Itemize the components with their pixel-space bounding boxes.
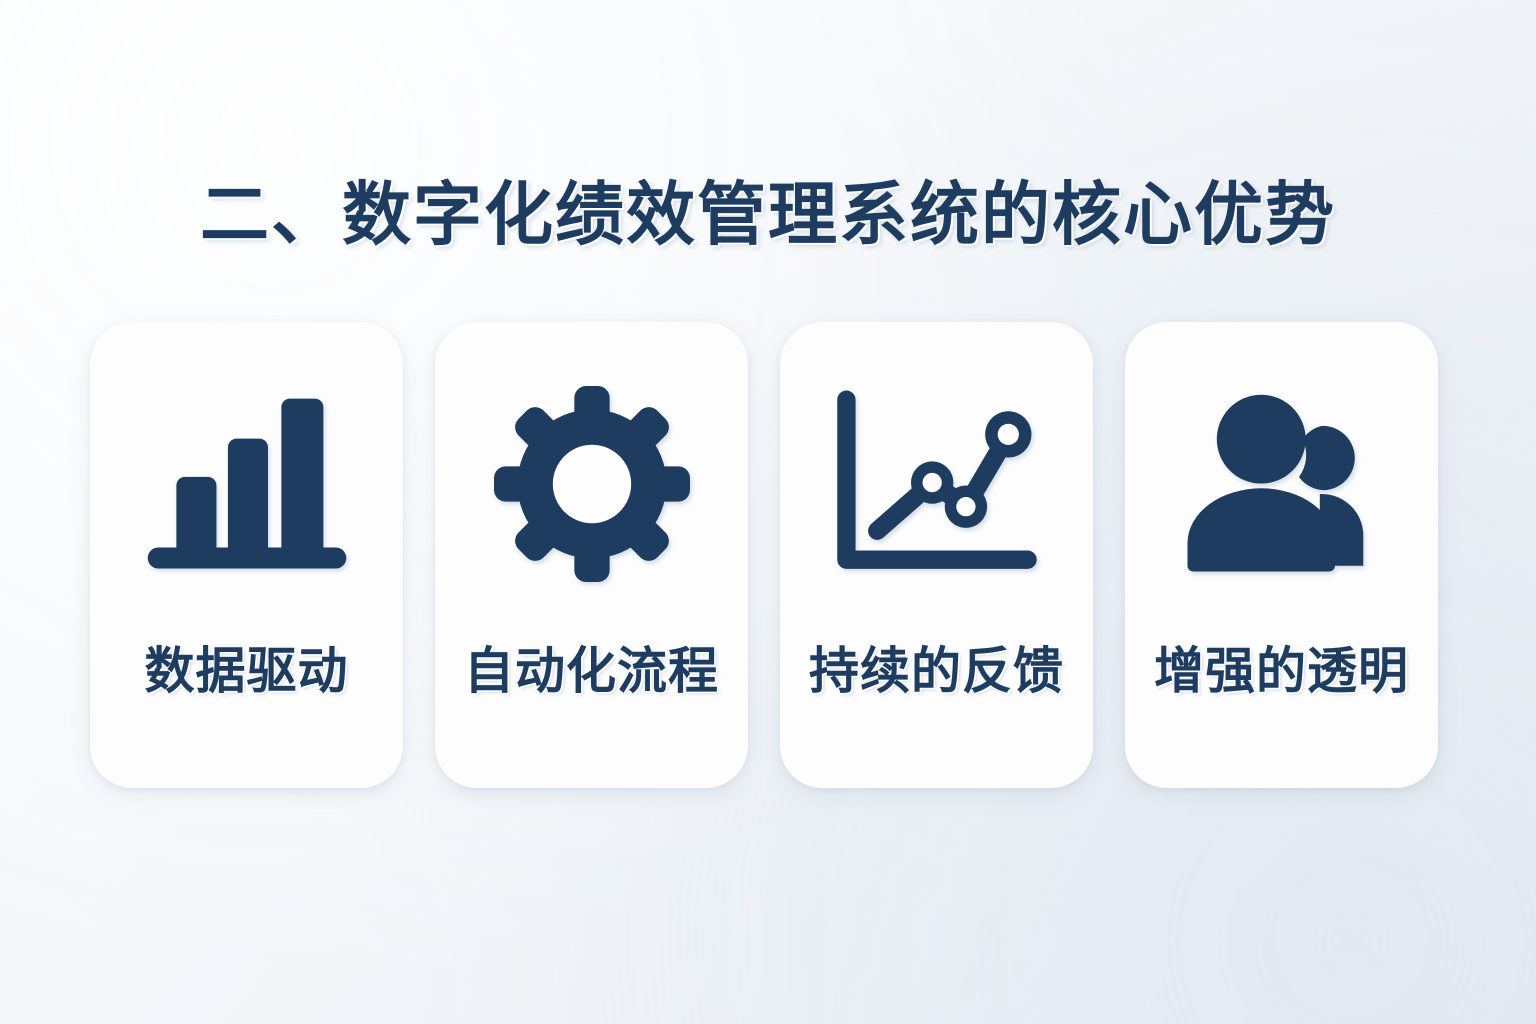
- benefit-card-automation[interactable]: 自动化流程: [435, 322, 748, 788]
- bar-chart-icon: [137, 384, 357, 584]
- benefit-card-label: 数据驱动: [145, 646, 349, 696]
- benefit-card-label: 自动化流程: [464, 646, 719, 696]
- benefit-card-continuous-feedback[interactable]: 持续的反馈: [780, 322, 1093, 788]
- benefit-card-label: 增强的透明: [1154, 646, 1409, 696]
- gear-icon: [482, 384, 702, 584]
- benefit-card-data-driven[interactable]: 数据驱动: [90, 322, 403, 788]
- slide-canvas: 二、数字化绩效管理系统的核心优势 数据驱动: [0, 0, 1536, 1024]
- page-title: 二、数字化绩效管理系统的核心优势: [0, 158, 1536, 258]
- benefit-card-transparency[interactable]: 增强的透明: [1125, 322, 1438, 788]
- benefit-card-label: 持续的反馈: [809, 646, 1064, 696]
- benefit-card-row: 数据驱动 自动化流程: [90, 322, 1438, 788]
- line-chart-icon: [827, 384, 1047, 584]
- users-icon: [1172, 384, 1392, 584]
